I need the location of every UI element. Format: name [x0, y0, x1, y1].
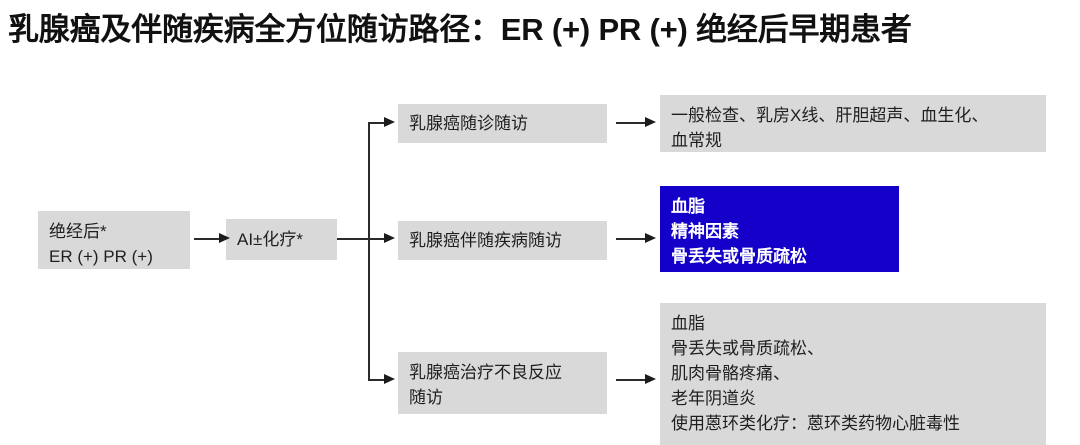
- node-exams-list: 一般检查、乳房X线、肝胆超声、血生化、 血常规: [660, 95, 1046, 152]
- page-title: 乳腺癌及伴随疾病全方位随访路径：ER (+) PR (+) 绝经后早期患者: [8, 8, 1074, 52]
- arrowhead-icon-trunk-to-routine: [384, 117, 395, 127]
- comorbidity-list-line-3: 骨丢失或骨质疏松: [671, 244, 888, 269]
- node-start: 绝经后* ER (+) PR (+): [38, 211, 190, 269]
- node-adverse-event-followup: 乳腺癌治疗不良反应 随访: [398, 352, 607, 414]
- node-start-line-1: 绝经后*: [49, 219, 179, 244]
- exams-list-line-1: 一般检查、乳房X线、肝胆超声、血生化、: [671, 103, 1035, 128]
- exams-list-line-2: 血常规: [671, 128, 1035, 153]
- arrowhead-icon-trunk-to-comorbidity: [384, 233, 395, 243]
- node-routine-followup: 乳腺癌随诊随访: [398, 104, 607, 143]
- node-comorbidity-list: 血脂 精神因素 骨丢失或骨质疏松: [660, 186, 899, 272]
- node-start-line-2: ER (+) PR (+): [49, 244, 179, 269]
- node-routine-followup-label: 乳腺癌随诊随访: [409, 111, 528, 136]
- node-treatment: AI±化疗*: [226, 219, 337, 260]
- node-adverse-event-followup-line-2: 随访: [409, 385, 596, 410]
- slide-canvas: 乳腺癌及伴随疾病全方位随访路径：ER (+) PR (+) 绝经后早期患者 绝经…: [0, 0, 1080, 445]
- node-comorbidity-followup: 乳腺癌伴随疾病随访: [398, 221, 607, 260]
- adverse-event-list-line-1: 血脂: [671, 311, 1035, 336]
- arrowhead-icon-routine-to-exams: [645, 117, 656, 127]
- node-treatment-label: AI±化疗*: [237, 227, 303, 252]
- adverse-event-list-line-5: 使用蒽环类化疗：蒽环类药物心脏毒性: [671, 411, 1035, 436]
- arrowhead-icon-comorbidity-to-list: [645, 233, 656, 243]
- adverse-event-list-line-2: 骨丢失或骨质疏松、: [671, 336, 1035, 361]
- node-adverse-event-followup-line-1: 乳腺癌治疗不良反应: [409, 360, 596, 385]
- arrowhead-icon-trunk-to-adverse: [384, 374, 395, 384]
- comorbidity-list-line-1: 血脂: [671, 194, 888, 219]
- adverse-event-list-line-4: 老年阴道炎: [671, 386, 1035, 411]
- connector-start-to-treatment: [194, 238, 222, 240]
- node-comorbidity-followup-label: 乳腺癌伴随疾病随访: [409, 228, 562, 253]
- adverse-event-list-line-3: 肌肉骨骼疼痛、: [671, 361, 1035, 386]
- node-adverse-event-list: 血脂 骨丢失或骨质疏松、 肌肉骨骼疼痛、 老年阴道炎 使用蒽环类化疗：蒽环类药物…: [660, 303, 1046, 445]
- connector-treatment-to-trunk: [337, 238, 370, 240]
- arrowhead-icon-adverse-to-list: [645, 374, 656, 384]
- connector-branch-trunk: [368, 123, 370, 380]
- comorbidity-list-line-2: 精神因素: [671, 219, 888, 244]
- arrowhead-icon-start-to-treatment: [219, 233, 230, 243]
